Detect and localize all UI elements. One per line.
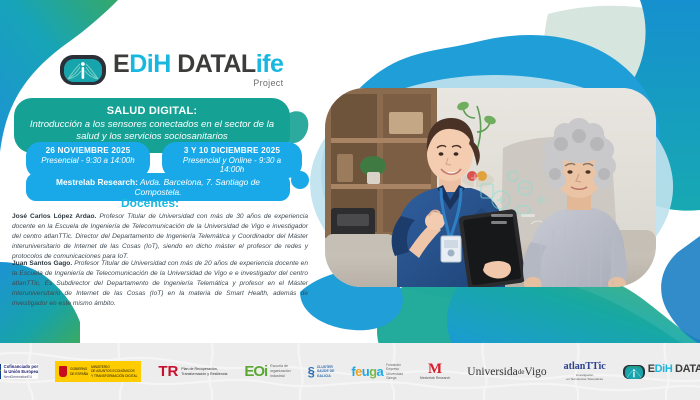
teacher-bio-1: José Carlos López Ardao. Profesor Titula… (12, 212, 308, 262)
feuga-a: a (376, 364, 383, 379)
footer-logos: ★★★★ Cofinanciado por la Unión Europea N… (0, 343, 700, 400)
teacher-1-description: Profesor Titular de Universidad con más … (12, 213, 308, 260)
teachers-heading: Docentes: (0, 196, 300, 210)
edih-datalife-logo: EDiH DATALife Project (60, 52, 283, 88)
venue-address: Avda. Barcelona, 7. Santiago de Composte… (134, 177, 259, 197)
teacher-1-name: José Carlos López Ardao. (12, 213, 96, 220)
edih-footer-datal: DATAL (672, 363, 700, 375)
event-poster: EDiH DATALife Project SALUD DIGITAL: Int… (0, 0, 700, 400)
edih-datalife-leaf-icon (60, 55, 106, 85)
poster-title: SALUD DIGITAL: (27, 105, 277, 117)
edih-footer-wordmark: EDiH DATALife (648, 364, 700, 375)
prtr-line-2: Transformación y Resiliencia (181, 372, 227, 377)
atlanttic-mark: atlanTTic (564, 362, 606, 372)
edih-datalife-footer-logo: EDiH DATALife Project (623, 364, 700, 380)
logo-text-e: E (113, 50, 129, 78)
edih-footer-dih: DiH (655, 363, 673, 375)
uvigo-part-3: Vigo (524, 366, 546, 378)
session-1-mode: Presencial - 9:30 a 14:00h (38, 156, 138, 165)
csg-line-3: GALICIA (317, 374, 335, 379)
eoi-line-3: industrial (270, 374, 290, 379)
mestrelab-research-logo: M Mestrelab Research (420, 363, 450, 381)
teacher-2-name: Juan Santos Gago. (12, 260, 72, 267)
edih-footer-subtitle: Project (648, 376, 700, 380)
logo-text-dih: DiH (129, 50, 171, 78)
session-2-date: 3 Y 10 DICIEMBRE 2025 (174, 146, 290, 155)
nurse-and-elderly-patient-with-tablet-photo (325, 88, 656, 287)
uvigo-part-1: Universida (467, 366, 517, 378)
atlanttic-logo: atlanTTic investigación en Tecnoloxías T… (564, 362, 606, 381)
eu-flag-icon: ★★★★ (0, 364, 1, 379)
csg-mark: § (308, 365, 315, 378)
mestrelab-mark: M (428, 363, 442, 376)
footer-logo-bar: ★★★★ Cofinanciado por la Unión Europea N… (0, 343, 700, 400)
logo-wordmark-text: EDiH DATALife (113, 52, 283, 77)
teacher-bio-2: Juan Santos Gago. Profesor Titular de Un… (12, 259, 308, 309)
spain-shield-icon (59, 366, 67, 377)
gob-line-4: DE ASUNTOS ECONÓMICOS (91, 369, 137, 373)
feuga-line-4: Galega (386, 376, 403, 380)
universidade-de-vigo-logo: UniversidadeVigo (467, 366, 546, 378)
edih-footer-leaf-icon (623, 365, 645, 379)
edih-footer-e: E (648, 363, 655, 375)
eu-line-3: NextGenerationEU (4, 375, 38, 379)
eoi-mark: EOi (244, 364, 267, 379)
gobierno-de-espana-logo: GOBIERNO DE ESPAÑA MINISTERIO DE ASUNTOS… (55, 361, 141, 382)
poster-subtitle: Introducción a los sensores conectados e… (27, 119, 277, 144)
gob-line-2: DE ESPAÑA (70, 372, 88, 376)
teacher-2-description: Profesor Titular de Universidad con más … (12, 260, 308, 307)
logo-text-ife: ife (256, 50, 284, 78)
eu-line-2: la Unión Europea (4, 369, 38, 374)
gob-line-1: GOBIERNO (70, 367, 88, 371)
venue-name: Mestrelab Research (56, 177, 135, 187)
eu-cofinanciado-logo: ★★★★ Cofinanciado por la Unión Europea N… (0, 364, 38, 379)
feuga-logo: feuga Fundación Empresa Universidad Gale… (351, 363, 403, 380)
session-1-date: 26 NOVIEMBRE 2025 (38, 146, 138, 155)
logo-text-datal: DATAL (171, 50, 256, 78)
gob-line-5: Y TRANSFORMACIÓN DIGITAL (91, 374, 137, 378)
cluster-saude-galicia-logo: § CLUSTER SAÚDE DE GALICIA (308, 365, 335, 379)
logo-subtitle: Project (113, 79, 283, 88)
eoi-logo: EOi Escuela de organización industrial (244, 364, 290, 379)
session-2-mode: Presencial y Online - 9:30 a 14:00h (174, 156, 290, 174)
feuga-mark: feuga (351, 365, 383, 378)
atlanttic-line-2: en Tecnoloxías Telemáticas (566, 378, 603, 381)
mestrelab-name: Mestrelab Research (420, 376, 450, 380)
eu-stars: ★★★★ (0, 368, 1, 375)
feuga-u: u (362, 364, 369, 379)
feuga-e: e (355, 364, 362, 379)
prtr-mark: TR (158, 364, 178, 379)
uvigo-part-2: de (518, 368, 525, 376)
plan-de-recuperacion-logo: TR Plan de Recuperación, Transformación … (158, 364, 227, 379)
